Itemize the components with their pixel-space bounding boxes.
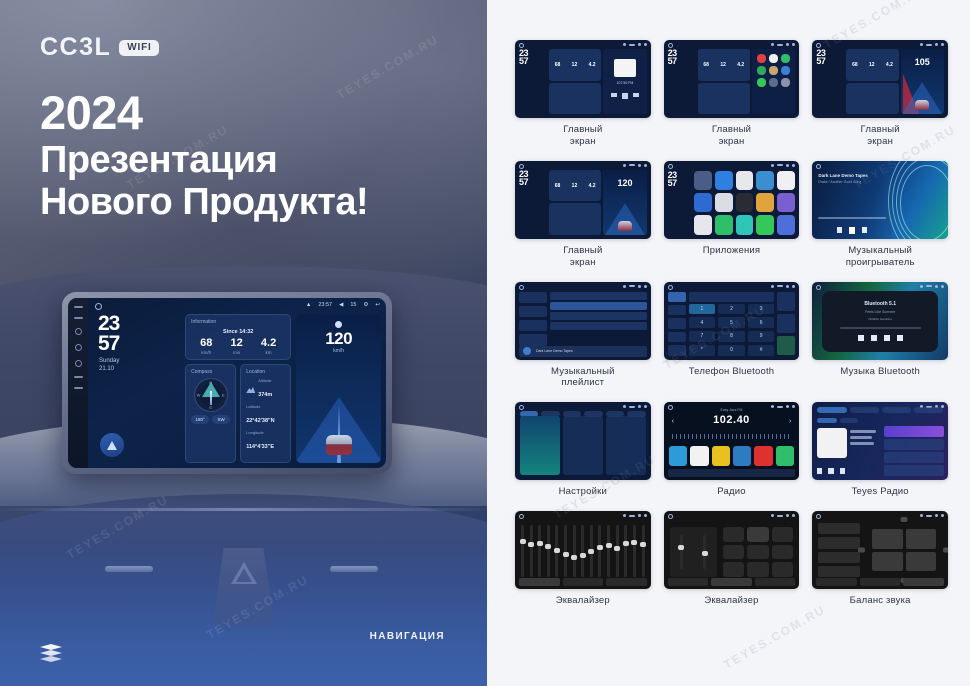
gallery-item[interactable]: 1 2 3 4 5 6 7 8 9 * 0 #	[664, 282, 800, 390]
mini-eq-faders[interactable]	[521, 525, 645, 577]
tab-genres[interactable]	[850, 407, 879, 413]
mini-eq-tabs[interactable]	[668, 578, 796, 586]
mini-track-list[interactable]	[550, 292, 647, 346]
gallery-caption: Приложения	[703, 245, 761, 257]
eq-band-slider[interactable]	[538, 525, 541, 577]
compass-direction-value: SW	[212, 415, 230, 424]
dial-key[interactable]: #	[748, 345, 775, 356]
trip-time-unit: min	[231, 350, 243, 355]
dial-key[interactable]: 5	[718, 317, 745, 328]
gallery-item[interactable]: Эквалайзер	[664, 511, 800, 607]
backspace-icon[interactable]	[777, 314, 795, 333]
information-card[interactable]: Information Since 14:32 68 km/h 12	[185, 314, 291, 360]
altitude-label: Altitude	[258, 378, 272, 383]
radio-prev-icon[interactable]: ‹	[672, 418, 674, 425]
balance-preset[interactable]	[818, 566, 860, 577]
preset-button[interactable]	[747, 527, 769, 542]
compass-dial: N S W E	[194, 378, 228, 412]
wifi-badge: WIFI	[119, 40, 158, 56]
thumbnail-settings[interactable]	[515, 402, 651, 480]
mini-clock: 2357	[668, 171, 691, 235]
radio-toolbar[interactable]	[668, 469, 796, 477]
list-item[interactable]	[550, 322, 647, 330]
gallery-item[interactable]: Teyes Радио	[812, 402, 948, 498]
gallery-caption: Настройки	[559, 486, 607, 498]
thumbnail-home-radio[interactable]: 2357 68 12 4.2 107.50 FM	[515, 40, 651, 118]
list-item[interactable]	[884, 465, 944, 476]
next-icon[interactable]	[862, 227, 867, 233]
dial-key[interactable]: 1	[689, 304, 716, 315]
eq-band-slider[interactable]	[547, 525, 550, 577]
next-icon[interactable]	[897, 335, 903, 341]
preset-button[interactable]	[723, 545, 745, 560]
hardware-button-rail[interactable]	[68, 298, 88, 468]
bt-progress-bar[interactable]	[840, 327, 921, 329]
list-item[interactable]	[550, 302, 647, 310]
eq-band-slider[interactable]	[607, 525, 610, 577]
gallery-caption: Баланс звука	[850, 595, 911, 607]
mini-clock-mm: 57	[668, 178, 677, 188]
clock-date: 21.10	[94, 366, 180, 374]
rail-volume-down-icon[interactable]	[74, 376, 83, 378]
location-title: Location	[246, 369, 285, 375]
seat-front-left[interactable]	[872, 529, 902, 549]
balance-preset[interactable]	[818, 552, 860, 563]
thumbnail-sound-balance[interactable]	[812, 511, 948, 589]
logo-text: CC3L	[40, 33, 111, 62]
eq-tab-effects[interactable]	[860, 578, 901, 586]
home-icon	[519, 405, 524, 410]
watermark: TEYES.COM.RU	[721, 602, 828, 672]
teyes-radio-controls[interactable]	[817, 468, 845, 474]
mini-compass-card	[549, 203, 601, 235]
panel-more[interactable]	[606, 416, 646, 475]
balance-left-button[interactable]	[858, 548, 865, 553]
radio-frequency-value: 102.40	[664, 414, 800, 426]
mini-player-controls[interactable]	[818, 227, 885, 234]
thumb-status-bar	[623, 405, 647, 408]
station-logo[interactable]	[669, 446, 687, 466]
favorite-star-icon[interactable]	[777, 292, 795, 311]
gallery-caption: Телефон Bluetooth	[689, 366, 775, 378]
latitude-label: Latitude	[246, 404, 285, 409]
thumb-status-bar	[920, 285, 944, 288]
mini-bt-player: Bluetooth 5.1 Feels Like Summer Childish…	[822, 291, 938, 352]
sidebar-settings-icon[interactable]	[668, 345, 686, 355]
filter-chip[interactable]	[817, 418, 837, 423]
mini-cards: 68 12 4.2	[549, 49, 601, 114]
gallery-item[interactable]: Bluetooth 5.1 Feels Like Summer Childish…	[812, 282, 948, 390]
app-icon-avin	[694, 171, 712, 190]
longitude-row: Longitude 114°4'33"E	[246, 430, 285, 453]
eq-band-slider[interactable]	[590, 525, 593, 577]
wifi-icon: ▲	[306, 302, 311, 308]
app-icon-play	[757, 78, 766, 87]
phone-number-field[interactable]	[689, 292, 775, 302]
eq-band-slider[interactable]	[633, 525, 636, 577]
mini-settings-panels	[520, 416, 646, 475]
sidebar-albums-icon[interactable]	[519, 320, 547, 331]
bt-track-artist: Childish Gambino	[868, 317, 892, 321]
eq-band-slider[interactable]	[521, 525, 524, 577]
clock-weekday: Sunday	[94, 358, 180, 366]
mini-progress-bar[interactable]	[818, 217, 885, 219]
compass-heading-value: 180°	[191, 415, 209, 424]
eq-fader-left[interactable]	[680, 535, 683, 569]
thumbnail-apps[interactable]: 2357	[664, 161, 800, 239]
eq-tab-equalizer[interactable]	[519, 578, 560, 586]
thumbnail-music-player[interactable]: Dark Lane Demo Tapes Drake / Another Goo…	[812, 161, 948, 239]
gallery-caption: Музыкальный проигрыватель	[846, 245, 915, 269]
mini-cards: 68 12 4.2	[549, 170, 601, 235]
mini-balance-layout	[818, 523, 942, 577]
app-icon-apps	[781, 78, 790, 87]
thumbnail-home-dvr[interactable]: 2357 68 12 4.2 105	[812, 40, 948, 118]
presentation-slide: ▲ 23:57 ◀ 15 ⚙ ↩ 23 57 Sunday 21.10	[0, 0, 970, 686]
gallery-caption: Teyes Радио	[852, 486, 909, 498]
gallery-item[interactable]: 2357	[664, 161, 800, 269]
mini-clock: 2357	[816, 49, 844, 114]
gallery-item[interactable]: 2357 68 12 4.2 105	[812, 40, 948, 148]
mini-track-artist: Drake / Another Good Song	[818, 180, 885, 184]
stop-icon[interactable]	[828, 468, 834, 474]
balance-preset[interactable]	[818, 537, 860, 548]
mini-trip-card: 68 12 4.2	[549, 170, 601, 202]
product-logo: CC3L WIFI	[40, 33, 159, 62]
eq-band-slider[interactable]	[616, 525, 619, 577]
eq-band-slider[interactable]	[530, 525, 533, 577]
mini-drive-view: 120	[603, 170, 646, 235]
stop-icon[interactable]	[884, 335, 890, 341]
list-item[interactable]	[550, 292, 647, 300]
tab-favorites[interactable]	[914, 407, 943, 413]
dial-key[interactable]: 0	[718, 345, 745, 356]
panel-wifi[interactable]	[520, 416, 560, 475]
sidebar-dialpad-icon[interactable]	[668, 292, 686, 302]
mini-eq-tabs[interactable]	[519, 578, 647, 586]
eq-tab-equalizer[interactable]	[816, 578, 857, 586]
play-pause-icon[interactable]	[871, 335, 877, 341]
clock-hours: 23	[94, 314, 180, 334]
thumbnail-bluetooth-music[interactable]: Bluetooth 5.1 Feels Like Summer Childish…	[812, 282, 948, 360]
call-icon[interactable]	[777, 336, 795, 355]
mini-trip-card: 68 12 4.2	[549, 49, 601, 81]
compass-readout: 180° SW	[191, 415, 230, 424]
preset-button[interactable]	[723, 562, 745, 577]
sidebar-contacts-icon[interactable]	[668, 305, 686, 315]
gallery-item[interactable]: 2357 68 12 4.2 120	[515, 161, 651, 269]
app-icon-bt-music	[736, 171, 754, 190]
mini-track-info: Dark Lane Demo Tapes Drake / Another Goo…	[818, 173, 885, 184]
mini-eq-presets[interactable]	[723, 527, 794, 577]
dial-key[interactable]: 3	[748, 304, 775, 315]
sidebar-folders-icon[interactable]	[519, 334, 547, 345]
preset-button[interactable]	[772, 545, 794, 560]
eq-fader-right[interactable]	[703, 535, 706, 569]
mini-radio-controls	[603, 93, 646, 99]
mini-balance-presets[interactable]	[818, 523, 860, 577]
eq-band-slider[interactable]	[624, 525, 627, 577]
speed-value: 120	[296, 330, 381, 347]
sidebar-recents-icon[interactable]	[668, 332, 686, 342]
thumb-status-bar	[623, 285, 647, 288]
dial-key[interactable]: 2	[718, 304, 745, 315]
eq-tab-fader[interactable]	[903, 578, 944, 586]
air-vent-right	[330, 566, 378, 572]
eq-tab-effects[interactable]	[563, 578, 604, 586]
mini-speed-value: 105	[915, 57, 930, 67]
seat-rear-right[interactable]	[906, 552, 936, 572]
app-icon-camera	[777, 171, 795, 190]
rail-back-icon[interactable]	[75, 360, 82, 367]
thumbnail-home-speed[interactable]: 2357 68 12 4.2 120	[515, 161, 651, 239]
mini-now-playing-bar[interactable]: Dark Lane Demo Tapes	[519, 346, 647, 357]
app-icon-settings	[769, 78, 778, 87]
prev-icon[interactable]	[817, 468, 822, 474]
app-icon-youtube	[757, 54, 766, 63]
mini-trip-b: 12	[720, 62, 726, 68]
list-item[interactable]	[884, 452, 944, 463]
app-icon-maps	[715, 215, 733, 234]
gallery-item[interactable]: Easy Jazz FM 102.40 ‹ › Радио	[664, 402, 800, 498]
car-icon	[618, 221, 632, 231]
thumbnail-equalizer-simple[interactable]	[664, 511, 800, 589]
clock-minutes: 57	[94, 334, 180, 354]
gallery-item[interactable]: Эквалайзер	[515, 511, 651, 607]
eq-band-slider[interactable]	[581, 525, 584, 577]
mini-apps-screen: 2357	[668, 171, 796, 235]
balance-up-button[interactable]	[901, 517, 908, 522]
mini-playlist-layout	[519, 292, 647, 346]
eq-band-slider[interactable]	[564, 525, 567, 577]
gallery-caption: Главный экран	[861, 124, 900, 148]
home-icon	[668, 285, 673, 290]
app-icon-radio	[777, 215, 795, 234]
mini-keypad[interactable]: 1 2 3 4 5 6 7 8 9 * 0 #	[689, 304, 775, 356]
thumbnail-teyes-radio[interactable]	[812, 402, 948, 480]
dial-key[interactable]: 4	[689, 317, 716, 328]
head-unit-screen[interactable]: ▲ 23:57 ◀ 15 ⚙ ↩ 23 57 Sunday 21.10	[68, 298, 386, 468]
prev-icon[interactable]	[837, 227, 842, 233]
list-item[interactable]	[550, 312, 647, 320]
sidebar-search-icon[interactable]	[668, 318, 686, 328]
eq-band-slider[interactable]	[555, 525, 558, 577]
mini-clock-mm: 57	[816, 56, 825, 66]
mini-home-layout: 2357 68 12 4.2 105	[816, 49, 944, 114]
rail-power-circle-icon[interactable]	[75, 328, 82, 335]
thumbnail-bluetooth-phone[interactable]: 1 2 3 4 5 6 7 8 9 * 0 #	[664, 282, 800, 360]
station-meta	[850, 430, 876, 445]
app-icon-gallery	[777, 193, 795, 212]
list-item[interactable]	[884, 426, 944, 437]
sidebar-tracks-icon[interactable]	[519, 292, 547, 303]
app-icon-store	[781, 66, 790, 75]
trip-speed-value: 68	[200, 338, 212, 349]
station-logo[interactable]	[754, 446, 772, 466]
next-icon[interactable]	[840, 468, 845, 474]
gallery-item[interactable]: Настройки	[515, 402, 651, 498]
rail-power-icon[interactable]	[74, 306, 83, 308]
mini-speed: 105	[901, 57, 944, 67]
thumbnail-playlist[interactable]: Dark Lane Demo Tapes	[515, 282, 651, 360]
hero-panel: ▲ 23:57 ◀ 15 ⚙ ↩ 23 57 Sunday 21.10	[0, 0, 487, 686]
thumbnail-home-apps[interactable]: 2357 68 12 4.2	[664, 40, 800, 118]
tab-countries[interactable]	[882, 407, 911, 413]
compass-north-label: N	[209, 380, 212, 385]
trip-stat: 68 km/h	[200, 338, 212, 355]
seat-front-right[interactable]	[906, 529, 936, 549]
preset-button[interactable]	[772, 562, 794, 577]
station-logo[interactable]	[690, 446, 708, 466]
secondary-widgets: Compass N S W E	[185, 364, 291, 463]
radio-presets[interactable]	[669, 446, 795, 466]
mini-eq-two-faders[interactable]	[670, 527, 717, 577]
trip-time-value: 12	[231, 338, 243, 349]
filter-chip[interactable]	[840, 418, 858, 423]
meta-line	[850, 436, 872, 439]
eq-band-slider[interactable]	[642, 525, 645, 577]
drive-view-widget[interactable]: 120 km/h	[296, 314, 381, 463]
eq-band-slider[interactable]	[598, 525, 601, 577]
mini-radio-widget: 107.50 FM	[603, 49, 646, 114]
trip-stat: 12 min	[231, 338, 243, 355]
station-logo[interactable]	[733, 446, 751, 466]
station-logo[interactable]	[776, 446, 794, 466]
dial-key[interactable]: 6	[748, 317, 775, 328]
mini-speed-value: 120	[617, 178, 632, 188]
app-icon-google	[694, 215, 712, 234]
dial-key[interactable]: 8	[718, 331, 745, 342]
balance-preset[interactable]	[818, 523, 860, 534]
home-icon	[668, 514, 673, 519]
mini-phone-actions[interactable]	[777, 292, 795, 356]
station-logo[interactable]	[712, 446, 730, 466]
dial-key[interactable]: *	[689, 345, 716, 356]
hazard-triangle-inner-icon	[236, 568, 252, 582]
latitude-row: Latitude 22°42'38"N	[246, 404, 285, 427]
sidebar-artists-icon[interactable]	[519, 306, 547, 317]
eq-band-slider[interactable]	[573, 525, 576, 577]
title-year: 2024	[40, 88, 368, 139]
home-icon	[519, 514, 524, 519]
speed-gauge-icon	[335, 321, 342, 328]
navigation-label: НАВИГАЦИЯ	[370, 631, 445, 642]
teyes-radio-tabs[interactable]	[817, 407, 943, 413]
mini-playlist-sidebar[interactable]	[519, 292, 547, 346]
thumb-status-bar	[623, 164, 647, 167]
prev-icon[interactable]	[858, 335, 864, 341]
gallery-caption: Музыкальный плейлист	[551, 366, 615, 390]
gallery-caption: Главный экран	[563, 124, 602, 148]
air-vent-left	[105, 566, 153, 572]
preset-button[interactable]	[723, 527, 745, 542]
mini-compass-card	[549, 83, 601, 115]
eq-tab-fader[interactable]	[755, 578, 796, 586]
seat-rear-left[interactable]	[872, 552, 902, 572]
radio-next-icon[interactable]: ›	[789, 418, 791, 425]
home-widgets: 23 57 Sunday 21.10 Information Since 14:…	[94, 314, 381, 463]
balance-right-button[interactable]	[943, 548, 948, 553]
eq-tab-effects[interactable]	[711, 578, 752, 586]
mini-album-art	[614, 59, 636, 77]
location-card[interactable]: Location Altitude 374m	[240, 364, 291, 463]
mini-compass-card	[698, 83, 750, 115]
thumbnail-radio[interactable]: Easy Jazz FM 102.40 ‹ ›	[664, 402, 800, 480]
eq-tab-equalizer[interactable]	[668, 578, 709, 586]
gallery-item[interactable]: Баланс звука	[812, 511, 948, 607]
preset-button[interactable]	[747, 545, 769, 560]
gallery-item[interactable]: Dark Lane Demo Tapes Музыкальный плейлис…	[515, 282, 651, 390]
preset-button[interactable]	[747, 562, 769, 577]
thumb-status-bar	[623, 43, 647, 46]
gear-icon[interactable]: ⚙	[363, 302, 368, 308]
mini-trip-c: 4.2	[589, 183, 596, 189]
radio-tuning-scale[interactable]	[672, 434, 792, 439]
trip-stats: 68 km/h 12 min 4.2 km	[191, 338, 285, 355]
mini-clock: 2357	[519, 170, 547, 235]
pause-icon[interactable]	[849, 227, 855, 234]
mini-visualizer	[891, 161, 948, 239]
car-icon	[326, 435, 352, 455]
rail-volume-up-icon[interactable]	[74, 387, 83, 389]
gallery-item[interactable]: 2357 68 12 4.2	[664, 40, 800, 148]
dial-key[interactable]: 9	[748, 331, 775, 342]
trip-speed-unit: km/h	[200, 350, 212, 355]
rail-home-icon[interactable]	[75, 344, 82, 351]
gallery-caption: Главный экран	[563, 245, 602, 269]
eq-tab-fader[interactable]	[606, 578, 647, 586]
head-unit-device: ▲ 23:57 ◀ 15 ⚙ ↩ 23 57 Sunday 21.10	[62, 292, 392, 474]
mini-track-title: Dark Lane Demo Tapes	[818, 173, 885, 178]
teyes-station-list[interactable]	[884, 426, 944, 476]
home-icon	[816, 514, 821, 519]
back-arrow-icon[interactable]: ↩	[375, 302, 380, 308]
mini-trip-card: 68 12 4.2	[846, 49, 898, 81]
navigation-fab-button[interactable]	[100, 433, 124, 457]
app-icon-clock	[715, 193, 733, 212]
speed-unit: km/h	[296, 348, 381, 354]
bt-player-controls[interactable]	[858, 335, 903, 341]
mini-app-grid	[755, 52, 792, 89]
preset-button[interactable]	[772, 527, 794, 542]
gallery-item[interactable]: 2357 68 12 4.2 107.50 FM	[515, 40, 651, 148]
thumb-status-bar	[623, 514, 647, 517]
clock-widget[interactable]: 23 57 Sunday 21.10	[94, 314, 180, 463]
mini-phone-sidebar[interactable]	[668, 292, 686, 356]
compass-needle-icon	[210, 391, 212, 405]
thumb-status-bar	[771, 164, 795, 167]
mini-eq-tabs[interactable]	[816, 578, 944, 586]
bluetooth-version-label: Bluetooth 5.1	[864, 301, 896, 307]
tab-all[interactable]	[817, 407, 846, 413]
teyes-radio-filters[interactable]	[817, 418, 943, 423]
mini-seat-map[interactable]	[866, 523, 942, 577]
app-icon-spotify	[757, 66, 766, 75]
home-indicator-icon[interactable]	[95, 303, 102, 310]
gallery-item[interactable]: Dark Lane Demo Tapes Drake / Another Goo…	[812, 161, 948, 269]
mini-compass-card	[846, 83, 898, 115]
rail-menu-icon[interactable]	[74, 317, 83, 319]
altitude-value: 374m	[258, 392, 272, 398]
compass-card[interactable]: Compass N S W E	[185, 364, 236, 463]
dial-key[interactable]: 7	[689, 331, 716, 342]
list-item[interactable]	[884, 439, 944, 450]
mini-radio-freq: 107.50 FM	[603, 81, 646, 85]
volume-icon: ◀	[339, 302, 343, 308]
panel-carplay[interactable]	[563, 416, 603, 475]
thumbnail-equalizer-bands[interactable]	[515, 511, 651, 589]
mini-trip-a: 68	[555, 183, 561, 189]
